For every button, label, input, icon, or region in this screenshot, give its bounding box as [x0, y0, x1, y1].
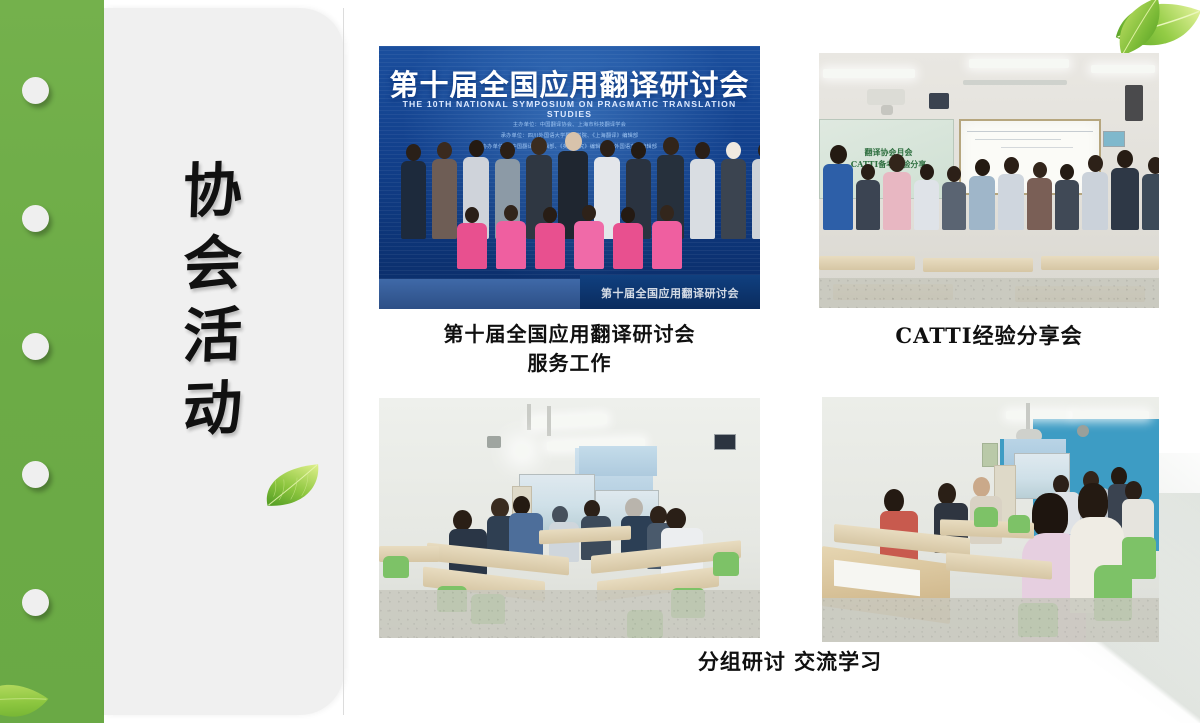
desk — [923, 258, 1033, 272]
lamp-glow — [515, 444, 529, 458]
person — [942, 166, 966, 230]
punch-hole-2 — [22, 205, 49, 232]
ceiling-light — [823, 69, 915, 78]
page-title-vertical: 协 会 活 动 — [168, 160, 258, 440]
wall-speaker — [1077, 425, 1089, 437]
window-blind — [579, 446, 657, 476]
ceiling-light — [1006, 411, 1072, 419]
caption-discussion: 分组研讨 交流学习 — [540, 647, 1040, 677]
speaker — [1125, 85, 1143, 121]
caption-symposium: 第十届全国应用翻译研讨会 服务工作 — [379, 320, 760, 378]
person — [883, 154, 911, 230]
title-char-1: 协 — [182, 159, 243, 224]
person — [998, 157, 1024, 230]
ceiling-rail — [963, 80, 1067, 85]
caption-catti: CATTI经验分享会 — [819, 321, 1159, 351]
seminar-floor — [379, 590, 760, 638]
person — [401, 144, 426, 239]
person-pink — [457, 207, 487, 269]
wall-box — [982, 443, 998, 467]
light-stem — [547, 406, 551, 436]
chair — [1008, 515, 1030, 533]
leaf-icon — [0, 661, 55, 723]
person-pink — [535, 207, 565, 269]
light-stem — [1026, 403, 1030, 429]
speaker — [929, 93, 949, 109]
person — [823, 145, 853, 230]
person — [1111, 150, 1139, 230]
person-pink — [574, 205, 604, 269]
chair — [1122, 537, 1156, 579]
banner-strip-text: 第十届全国应用翻译研讨会 — [580, 285, 760, 301]
punch-hole-5 — [22, 589, 49, 616]
desk — [1041, 256, 1159, 270]
wall-camera — [487, 436, 501, 448]
classroom-floor — [819, 278, 1159, 308]
person — [690, 142, 715, 239]
person — [914, 164, 939, 230]
person — [721, 142, 746, 239]
projector-mount — [881, 105, 893, 115]
title-char-3: 活 — [182, 304, 243, 369]
ceiling-light — [969, 59, 1069, 68]
person — [1027, 162, 1052, 230]
desk — [819, 256, 915, 270]
left-green-band — [0, 0, 104, 723]
banner-title-cn: 第十届全国应用翻译研讨会 — [379, 62, 760, 104]
person — [1082, 155, 1108, 230]
person — [1142, 157, 1159, 230]
person — [856, 164, 880, 230]
person-pink — [496, 205, 526, 269]
student-row — [823, 145, 1159, 230]
people-front-row — [457, 205, 682, 269]
wall-screen — [714, 434, 736, 450]
banner-title-en: THE 10TH NATIONAL SYMPOSIUM ON PRAGMATIC… — [379, 99, 760, 119]
photo-symposium[interactable]: 第十届全国应用翻译研讨会 THE 10TH NATIONAL SYMPOSIUM… — [379, 46, 760, 309]
title-char-2: 会 — [182, 232, 243, 297]
punch-hole-4 — [22, 461, 49, 488]
title-char-4: 动 — [182, 377, 243, 442]
person — [969, 159, 995, 230]
slide-canvas: 协 会 活 动 第十届全国应用翻译研讨会 THE 10TH NATI — [0, 0, 1200, 723]
photo-discussion[interactable] — [822, 397, 1159, 642]
chair — [713, 552, 739, 576]
person — [752, 142, 760, 239]
photo-catti[interactable]: 翻译协会月会 CATTI备考经验分享 — [819, 53, 1159, 308]
banner-org-line-1: 主办单位：中国翻译协会、上海市科技翻译学会 — [379, 120, 760, 131]
discussion-floor — [822, 598, 1159, 642]
person-pink — [613, 207, 643, 269]
ceiling-light — [1073, 411, 1149, 419]
punch-hole-3 — [22, 333, 49, 360]
chair — [383, 556, 409, 578]
ceiling-light — [1091, 65, 1155, 73]
card-right-edge — [343, 8, 344, 715]
person — [432, 142, 457, 239]
banner-bottom-strip: 第十届全国应用翻译研讨会 — [580, 275, 760, 309]
photo-seminar[interactable] — [379, 398, 760, 638]
person — [1055, 164, 1079, 230]
projector — [867, 89, 905, 105]
person-pink — [652, 205, 682, 269]
chair — [974, 507, 998, 527]
light-stem — [527, 404, 531, 430]
punch-hole-1 — [22, 77, 49, 104]
